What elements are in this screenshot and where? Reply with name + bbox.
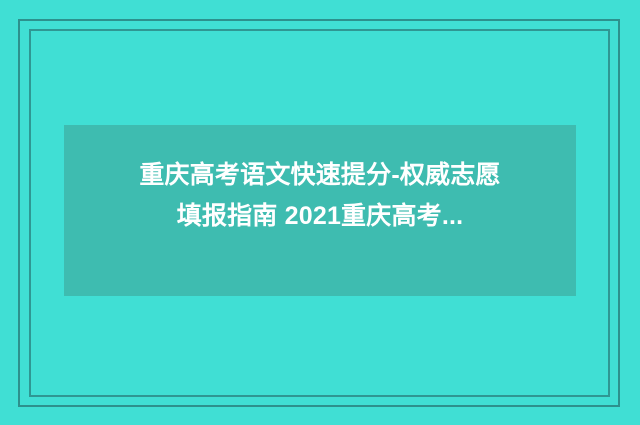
title-banner-panel: 重庆高考语文快速提分-权威志愿 填报指南 2021重庆高考... — [64, 125, 576, 296]
title-text-block: 重庆高考语文快速提分-权威志愿 填报指南 2021重庆高考... — [90, 125, 550, 296]
banner-title-line-2: 填报指南 2021重庆高考... — [130, 196, 510, 237]
image-canvas: 重庆高考语文快速提分-权威志愿 填报指南 2021重庆高考... — [0, 0, 640, 425]
banner-title-line-1: 重庆高考语文快速提分-权威志愿 — [130, 155, 510, 196]
